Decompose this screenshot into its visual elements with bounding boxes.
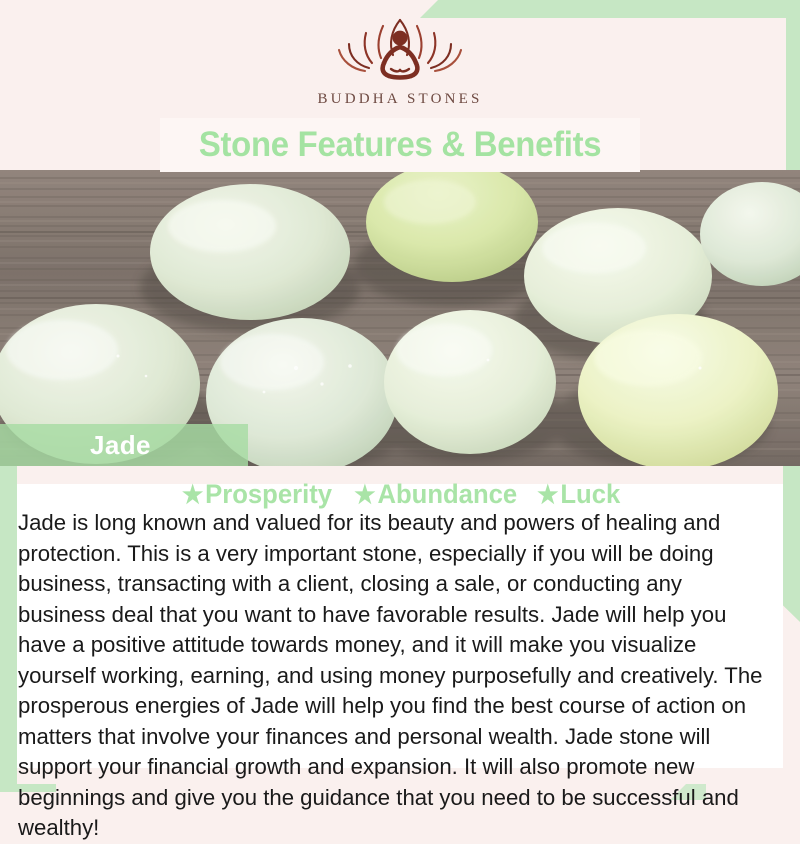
star-icon: ★ — [537, 481, 558, 509]
benefit-item-prosperity: ★Prosperity — [182, 479, 332, 510]
benefits-row: ★Prosperity★Abundance★Luck — [0, 479, 800, 510]
star-icon: ★ — [354, 481, 375, 509]
lotus-meditation-icon — [325, 14, 475, 88]
stone-name-label: Jade — [90, 430, 151, 461]
brand-logo: BUDDHA STONES — [0, 14, 800, 114]
stone-name-band: Jade — [0, 424, 248, 466]
star-icon: ★ — [182, 481, 203, 509]
brand-wordmark: BUDDHA STONES — [317, 91, 482, 108]
stone-photo — [0, 170, 800, 466]
benefit-label: Abundance — [377, 479, 517, 509]
description-paragraph: Jade is long known and valued for its be… — [18, 508, 774, 844]
benefit-label: Luck — [560, 479, 620, 509]
page-title: Stone Features & Benefits — [199, 125, 601, 165]
description-text: Jade is long known and valued for its be… — [18, 508, 774, 844]
benefit-item-abundance: ★Abundance — [354, 479, 517, 510]
stone-photo-graphic — [0, 170, 800, 466]
title-banner: Stone Features & Benefits — [160, 118, 640, 172]
benefit-item-luck: ★Luck — [537, 479, 620, 510]
benefit-label: Prosperity — [205, 479, 332, 509]
